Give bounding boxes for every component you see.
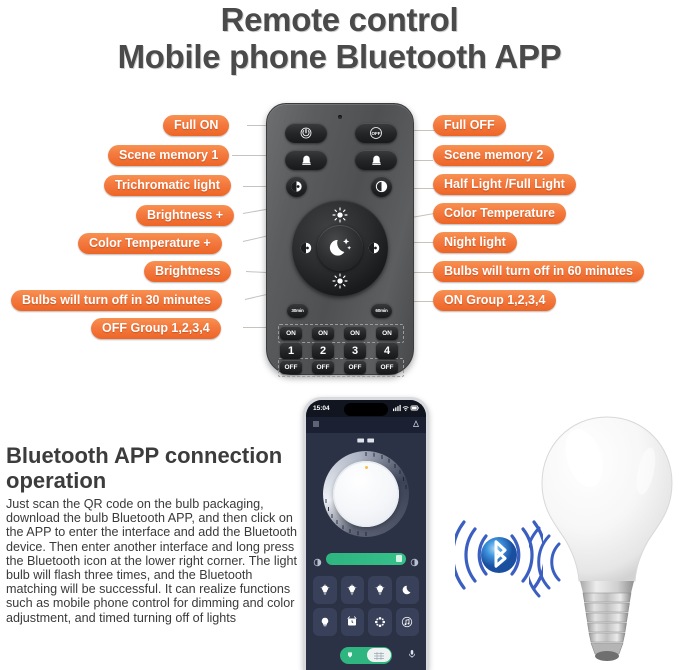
group-4-on-button[interactable]: ON bbox=[376, 326, 398, 340]
callout-off-group: OFF Group 1,2,3,4 bbox=[91, 318, 221, 339]
half-moon-icon bbox=[299, 241, 313, 255]
group-2-on-button[interactable]: ON bbox=[312, 326, 334, 340]
settings-icon[interactable] bbox=[412, 420, 420, 430]
callout-color-temperature: Color Temperature bbox=[433, 203, 566, 224]
color-wheel-icon bbox=[374, 616, 386, 628]
bulb-icon bbox=[374, 584, 386, 596]
title-line-2: Mobile phone Bluetooth APP bbox=[0, 38, 679, 76]
title-line-1: Remote control bbox=[0, 0, 679, 38]
grid-glyph-icon bbox=[373, 651, 385, 661]
mode-bulb-glow-button[interactable] bbox=[313, 608, 337, 636]
moon-stars-icon bbox=[326, 234, 354, 262]
off-icon: OFF bbox=[369, 126, 383, 140]
status-icons bbox=[393, 404, 419, 414]
timer-30min-button[interactable]: 30min bbox=[287, 303, 308, 318]
bulb-glow-icon bbox=[319, 616, 331, 628]
brightness-up-button[interactable] bbox=[331, 206, 349, 224]
mode-grid-row-2 bbox=[313, 608, 419, 636]
bell-scene-icon bbox=[370, 154, 383, 167]
dynamic-island bbox=[344, 403, 388, 416]
remote-control: OFF bbox=[266, 103, 414, 375]
group-3-on-button[interactable]: ON bbox=[344, 326, 366, 340]
device-name-glyphs bbox=[356, 437, 376, 444]
knob-indicator-dot bbox=[365, 466, 368, 469]
brightness-slider-knob[interactable] bbox=[396, 555, 402, 562]
mode-bulb-button-3[interactable] bbox=[368, 576, 392, 604]
toggle-left-icon bbox=[346, 651, 354, 659]
mode-grid-row-1 bbox=[313, 576, 419, 604]
bulb-icon bbox=[319, 584, 331, 596]
bulb-icon bbox=[346, 584, 358, 596]
sun-icon bbox=[332, 207, 348, 223]
scene-memory-1-button[interactable] bbox=[285, 150, 327, 170]
page-title: Remote control Mobile phone Bluetooth AP… bbox=[0, 0, 679, 76]
svg-text:OFF: OFF bbox=[372, 131, 381, 136]
mode-bulb-button-2[interactable] bbox=[341, 576, 365, 604]
smartphone-mockup: 15:04 bbox=[303, 397, 429, 670]
sun-icon bbox=[332, 273, 348, 289]
phone-screen: 15:04 bbox=[306, 400, 426, 670]
app-section-heading: Bluetooth APP connection operation bbox=[6, 443, 296, 493]
app-toolbar bbox=[306, 417, 426, 433]
music-icon bbox=[401, 616, 413, 628]
scene-memory-2-button[interactable] bbox=[355, 150, 397, 170]
callout-night-light: Night light bbox=[433, 232, 517, 253]
callout-half-full-light: Half Light /Full Light bbox=[433, 174, 576, 195]
trichromatic-light-button[interactable] bbox=[286, 176, 307, 197]
group-1-on-button[interactable]: ON bbox=[280, 326, 302, 340]
alarm-icon bbox=[346, 616, 358, 628]
callout-timer-30: Bulbs will turn off in 30 minutes bbox=[11, 290, 222, 311]
menu-icon[interactable] bbox=[312, 420, 320, 430]
color-temperature-plus-button[interactable] bbox=[298, 240, 314, 256]
group-2-off-button[interactable]: OFF bbox=[312, 360, 334, 374]
brightness-knob[interactable] bbox=[323, 451, 409, 537]
moon-icon bbox=[401, 584, 413, 596]
mode-music-button[interactable] bbox=[396, 608, 420, 636]
mic-icon[interactable] bbox=[407, 646, 417, 664]
brightness-slider-row[interactable] bbox=[313, 552, 419, 565]
callout-brightness-plus: Brightness + bbox=[136, 205, 234, 226]
led-bulb bbox=[536, 413, 678, 668]
callout-full-on: Full ON bbox=[163, 115, 229, 136]
group-3-num-button[interactable]: 3 bbox=[344, 342, 366, 359]
app-section-body: Just scan the QR code on the bulb packag… bbox=[6, 497, 298, 625]
ir-led-indicator bbox=[338, 115, 342, 119]
timer-60min-button[interactable]: 60min bbox=[371, 303, 392, 318]
callout-scene-memory-2: Scene memory 2 bbox=[433, 145, 554, 166]
callout-scene-memory-1: Scene memory 1 bbox=[108, 145, 229, 166]
night-light-button[interactable] bbox=[317, 225, 363, 271]
mode-color-wheel-button[interactable] bbox=[368, 608, 392, 636]
half-circle-brightness-icon bbox=[375, 180, 388, 193]
callout-on-group: ON Group 1,2,3,4 bbox=[433, 290, 556, 311]
mode-bulb-button-1[interactable] bbox=[313, 576, 337, 604]
group-1-off-button[interactable]: OFF bbox=[280, 360, 302, 374]
bell-scene-icon bbox=[300, 154, 313, 167]
mode-night-button[interactable] bbox=[396, 576, 420, 604]
power-icon bbox=[300, 127, 312, 139]
color-temperature-minus-button[interactable] bbox=[366, 240, 382, 256]
half-full-light-button[interactable] bbox=[371, 176, 392, 197]
brightness-high-icon bbox=[410, 554, 419, 563]
device-name-label bbox=[306, 437, 426, 446]
group-4-num-button[interactable]: 4 bbox=[376, 342, 398, 359]
group-4-off-button[interactable]: OFF bbox=[376, 360, 398, 374]
toggle-knob bbox=[367, 648, 391, 662]
power-off-button[interactable]: OFF bbox=[355, 123, 397, 143]
callout-full-off: Full OFF bbox=[433, 115, 506, 136]
brightness-low-icon bbox=[313, 554, 322, 563]
callout-brightness: Brightness bbox=[144, 261, 231, 282]
group-1-num-button[interactable]: 1 bbox=[280, 342, 302, 359]
brightness-down-button[interactable] bbox=[331, 272, 349, 290]
signal-wifi-battery-icons bbox=[393, 404, 419, 412]
bottom-bar bbox=[313, 646, 419, 664]
group-2-num-button[interactable]: 2 bbox=[312, 342, 334, 359]
group-3-off-button[interactable]: OFF bbox=[344, 360, 366, 374]
knob-face bbox=[333, 461, 399, 527]
power-toggle[interactable] bbox=[340, 647, 392, 664]
mode-alarm-button[interactable] bbox=[341, 608, 365, 636]
status-time: 15:04 bbox=[313, 405, 330, 412]
half-moon-icon bbox=[367, 241, 381, 255]
callout-color-temperature-plus: Color Temperature + bbox=[78, 233, 222, 254]
callout-trichromatic-light: Trichromatic light bbox=[104, 175, 231, 196]
control-dial bbox=[292, 200, 388, 296]
callout-timer-60: Bulbs will turn off in 60 minutes bbox=[433, 261, 644, 282]
half-circle-color-icon bbox=[290, 180, 303, 193]
brightness-slider-track[interactable] bbox=[326, 553, 406, 565]
power-on-button[interactable] bbox=[285, 123, 327, 143]
